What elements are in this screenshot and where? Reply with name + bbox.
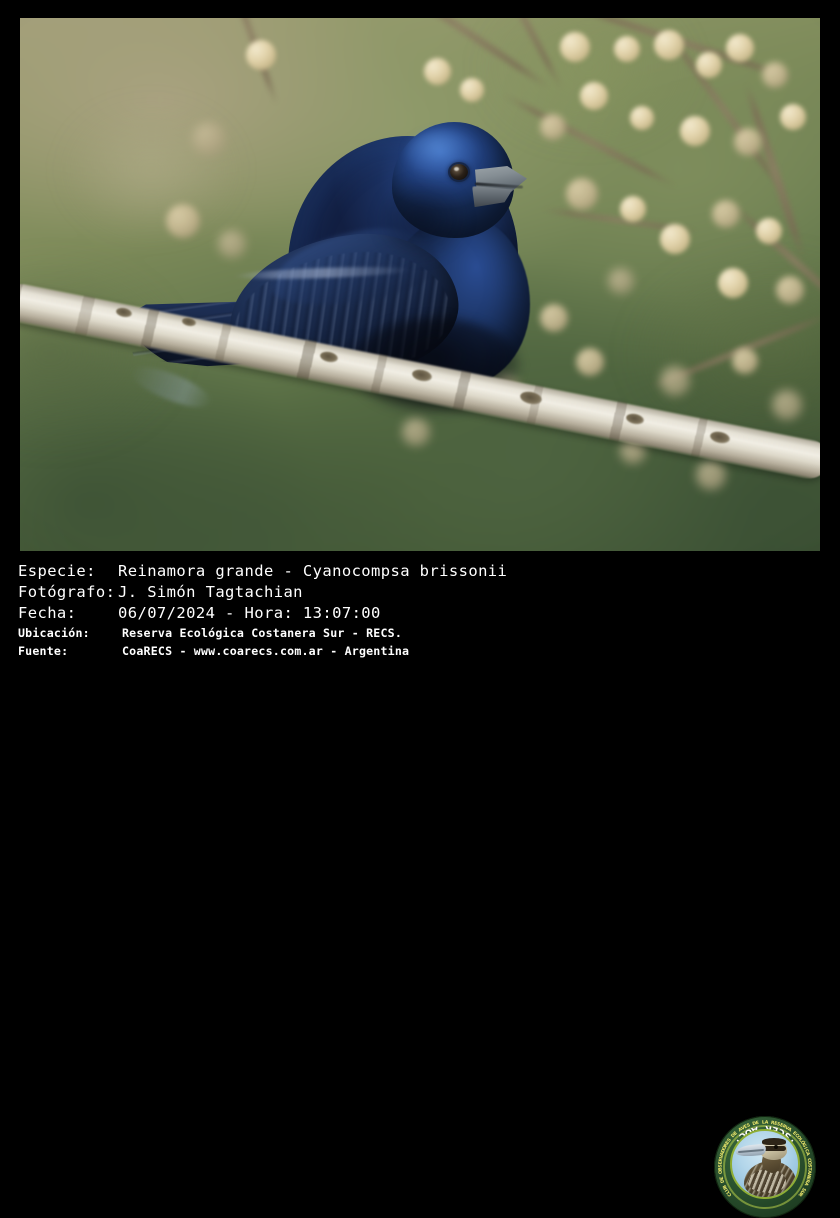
berry — [712, 200, 740, 228]
caption-label-fecha: Fecha: — [18, 604, 118, 623]
berry — [460, 78, 484, 102]
berry — [696, 52, 722, 78]
caption-label-especie: Especie: — [18, 562, 118, 581]
berry — [734, 128, 762, 156]
berry — [630, 106, 654, 130]
caption-row-fotografo: Fotógrafo: J. Simón Tagtachian — [18, 583, 303, 602]
logo-center-disc — [730, 1129, 800, 1199]
caption-value-ubicacion: Reserva Ecológica Costanera Sur - RECS. — [122, 626, 402, 641]
caption-bar: Especie: Reinamora grande - Cyanocompsa … — [0, 553, 840, 668]
coa-recs-logo[interactable]: CLUB DE OBSERVADORES DE AVES DE LA RESER… — [714, 1116, 816, 1218]
berry — [726, 34, 754, 62]
caption-row-ubicacion: Ubicación: Reserva Ecológica Costanera S… — [18, 626, 402, 641]
berry — [218, 230, 246, 258]
berry — [620, 196, 646, 222]
berry — [540, 304, 568, 332]
duck-crown-icon — [762, 1138, 786, 1145]
berry — [762, 62, 788, 88]
berry — [756, 218, 782, 244]
berry — [192, 122, 226, 156]
caption-value-fuente: CoaRECS - www.coarecs.com.ar - Argentina — [122, 644, 409, 659]
berry — [560, 32, 590, 62]
berry — [614, 36, 640, 62]
berry — [660, 366, 690, 396]
berry — [660, 224, 690, 254]
berry — [608, 268, 634, 294]
caption-value-especie: Reinamora grande - Cyanocompsa brissonii — [118, 562, 507, 581]
berry — [780, 104, 806, 130]
berry — [776, 276, 804, 304]
berry — [402, 418, 430, 446]
berry — [580, 82, 608, 110]
caption-value-fotografo: J. Simón Tagtachian — [118, 583, 303, 602]
berry — [732, 348, 758, 374]
berry — [166, 204, 200, 238]
berry — [566, 178, 598, 210]
berry — [718, 268, 748, 298]
photo-canvas — [20, 18, 820, 551]
caption-row-fecha: Fecha: 06/07/2024 - Hora: 13:07:00 — [18, 604, 381, 623]
berry — [696, 460, 726, 490]
caption-label-fotografo: Fotógrafo: — [18, 583, 118, 602]
duck-eye-icon — [774, 1145, 778, 1149]
bird-nape-shadow — [376, 178, 468, 262]
duck-wing-icon — [748, 1169, 786, 1193]
berry — [654, 30, 684, 60]
caption-row-fuente: Fuente: CoaRECS - www.coarecs.com.ar - A… — [18, 644, 409, 659]
berry — [424, 58, 451, 85]
bird-eye-glint — [454, 167, 459, 171]
bird-eye — [450, 164, 468, 180]
berry — [680, 116, 710, 146]
caption-row-especie: Especie: Reinamora grande - Cyanocompsa … — [18, 562, 507, 581]
berry — [540, 114, 566, 140]
berry — [246, 40, 276, 70]
caption-label-fuente: Fuente: — [18, 644, 122, 659]
photo-caption-card: Especie: Reinamora grande - Cyanocompsa … — [0, 0, 840, 668]
berry — [772, 390, 802, 420]
caption-value-fecha: 06/07/2024 - Hora: 13:07:00 — [118, 604, 381, 623]
bird-photograph — [20, 18, 820, 551]
berry — [576, 348, 604, 376]
caption-label-ubicacion: Ubicación: — [18, 626, 122, 641]
